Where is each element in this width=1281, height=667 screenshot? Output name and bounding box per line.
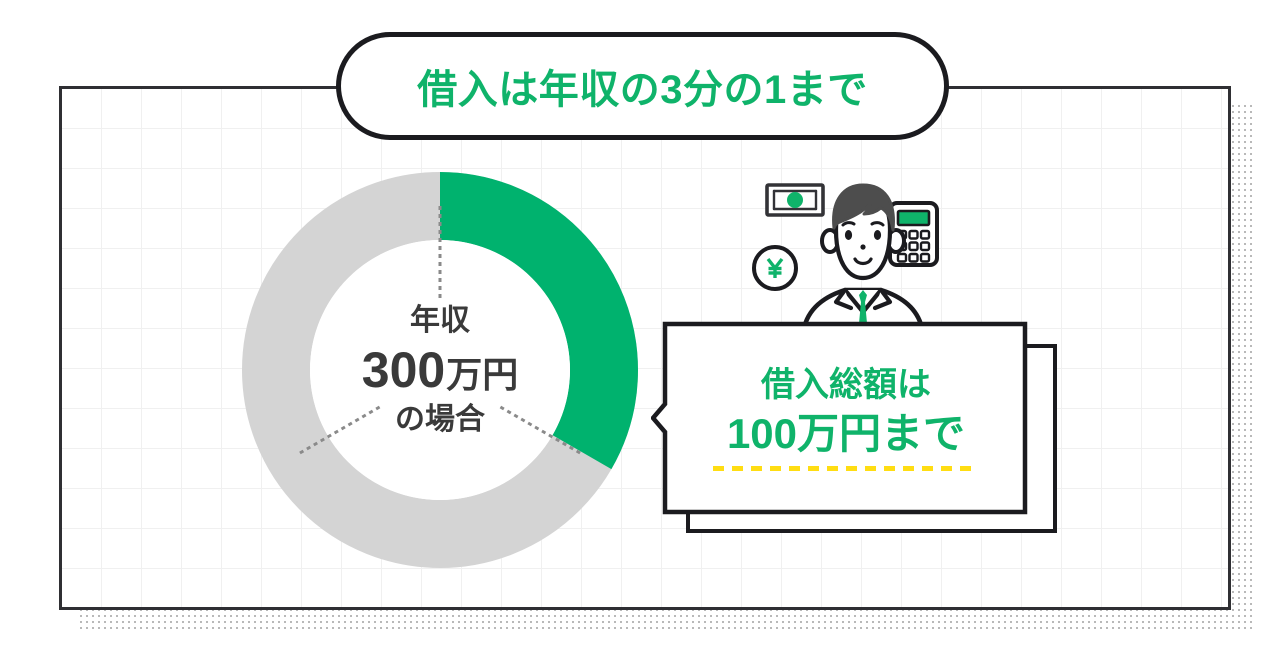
illustration-svg — [748, 178, 978, 334]
title-banner: 借入は年収の3分の1まで — [336, 32, 949, 140]
businessman-illustration — [748, 178, 978, 334]
callout-card-front: 借入総額は 100万円まで — [651, 320, 1029, 516]
banknote-icon — [767, 185, 823, 215]
callout-outline — [653, 324, 1025, 512]
yen-coin-icon — [754, 247, 796, 289]
person-head — [834, 185, 894, 278]
donut-chart-svg — [242, 172, 638, 568]
callout-shape-svg — [651, 320, 1029, 516]
donut-chart: 年収 300 万円 の場合 — [242, 172, 638, 568]
callout-card-shape — [651, 320, 1029, 516]
infographic-canvas: 年収 300 万円 の場合 — [0, 0, 1281, 667]
page-title: 借入は年収の3分の1まで — [417, 57, 868, 115]
